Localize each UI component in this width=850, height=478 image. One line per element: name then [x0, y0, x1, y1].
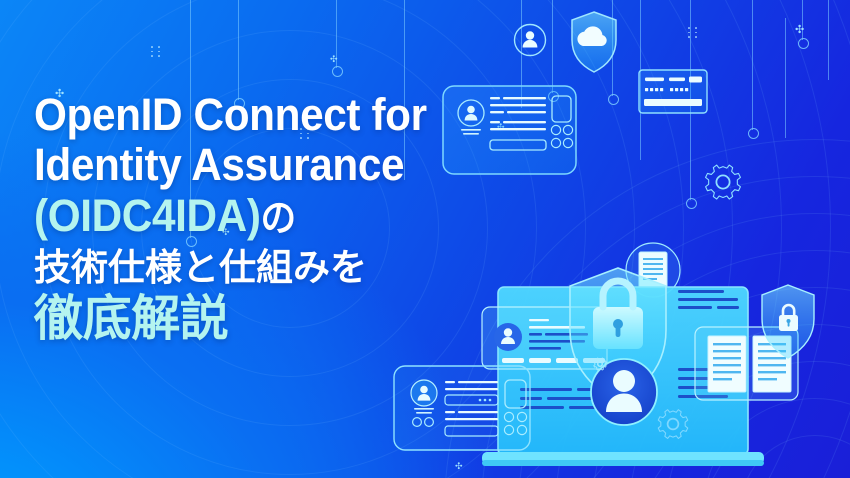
- headline-line-2: Identity Assurance: [34, 140, 427, 190]
- id-card-panel-lower: [392, 362, 538, 458]
- headline-line-5: 徹底解説: [34, 290, 452, 348]
- cloud-shield-icon: [572, 12, 616, 72]
- user-avatar-circle-icon: [515, 25, 546, 56]
- gear-icon-upper: [706, 165, 741, 199]
- headline-particle: の: [261, 198, 296, 240]
- sparkle-icon: ✣: [330, 55, 338, 64]
- credit-card-icon: [639, 70, 707, 113]
- headline-block: OpenID Connect for Identity Assurance (O…: [34, 90, 452, 348]
- banner-root: ✣ ✣ ✣ ✣ ✣ ✣: [0, 0, 850, 478]
- headline-code: (OIDC4IDA): [34, 190, 261, 241]
- headline-line-3: (OIDC4IDA)の: [34, 190, 427, 245]
- headline-line-1: OpenID Connect for: [34, 90, 427, 140]
- headline-line-4: 技術仕様と仕組みを: [34, 245, 452, 290]
- id-card-panel-upper: [443, 86, 576, 174]
